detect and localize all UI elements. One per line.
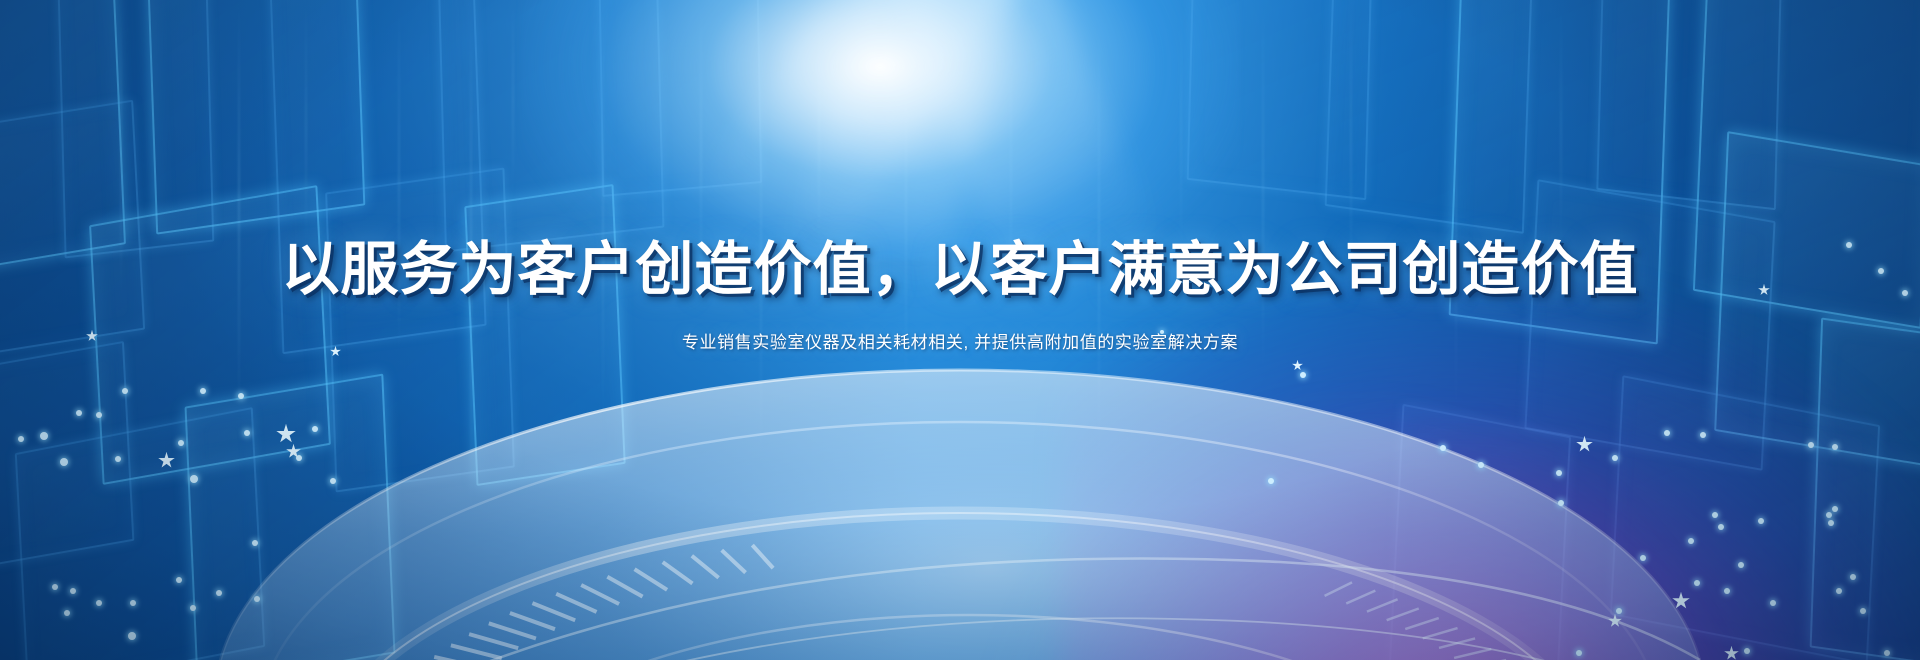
hero-banner: 以服务为客户创造价值，以客户满意为公司创造价值 专业销售实验室仪器及相关耗材相关… (0, 0, 1920, 660)
banner-title: 以服务为客户创造价值，以客户满意为公司创造价值 (281, 222, 1638, 306)
banner-content: 以服务为客户创造价值，以客户满意为公司创造价值 专业销售实验室仪器及相关耗材相关… (0, 0, 1920, 660)
banner-subtitle: 专业销售实验室仪器及相关耗材相关, 并提供高附加值的实验室解决方案 (682, 328, 1238, 353)
